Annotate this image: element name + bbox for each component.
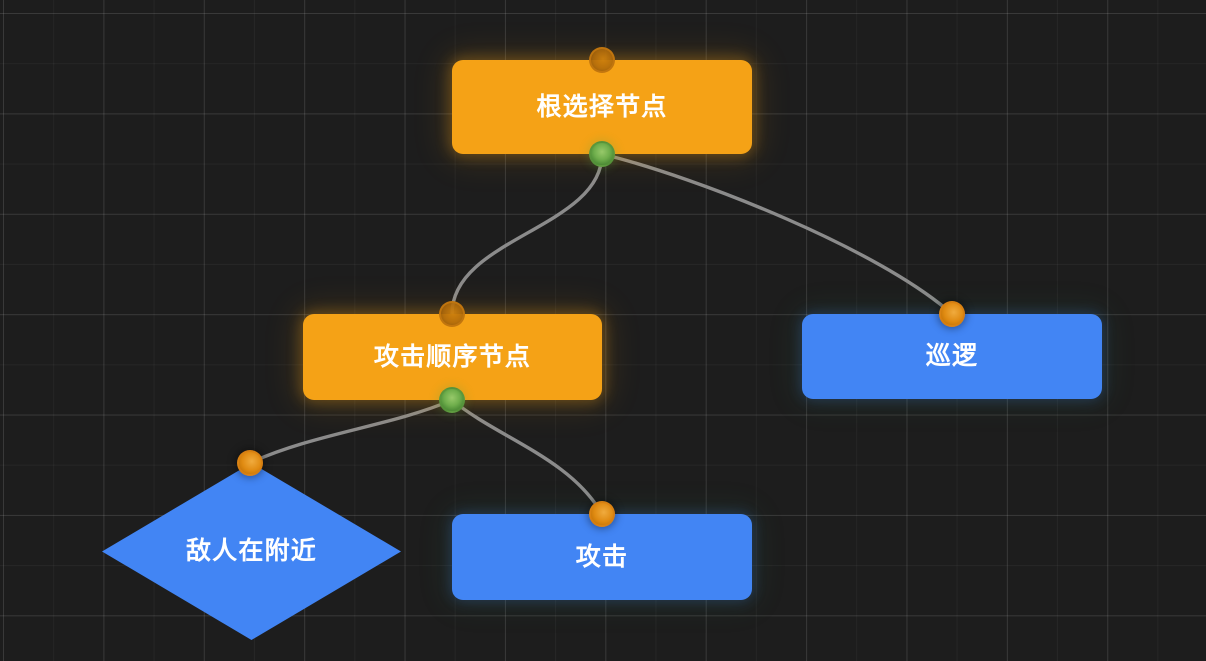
node-root-selector-label: 根选择节点 <box>536 95 667 120</box>
port-in-patrol[interactable] <box>939 301 965 327</box>
port-in-root-selector[interactable] <box>589 47 615 73</box>
edge-root-to-attack-sequence[interactable] <box>452 154 602 314</box>
node-root-selector[interactable]: 根选择节点 <box>452 60 752 154</box>
port-out-attack-sequence[interactable] <box>439 387 465 413</box>
node-attack-sequence-label: 攻击顺序节点 <box>374 345 531 370</box>
port-in-attack[interactable] <box>589 501 615 527</box>
node-enemy-nearby[interactable]: 敌人在附近 <box>102 463 401 640</box>
node-attack-sequence[interactable]: 攻击顺序节点 <box>303 314 602 400</box>
node-attack-label: 攻击 <box>576 545 628 570</box>
port-in-enemy-nearby[interactable] <box>237 450 263 476</box>
node-patrol[interactable]: 巡逻 <box>802 314 1102 399</box>
port-out-root-selector[interactable] <box>589 141 615 167</box>
node-enemy-nearby-label: 敌人在附近 <box>186 539 317 564</box>
node-attack[interactable]: 攻击 <box>452 514 752 600</box>
port-in-attack-sequence[interactable] <box>439 301 465 327</box>
edge-root-to-patrol[interactable] <box>602 154 952 314</box>
node-root-selector-body[interactable]: 根选择节点 <box>452 60 752 154</box>
node-enemy-nearby-body[interactable]: 敌人在附近 <box>102 463 401 640</box>
edge-attack-sequence-to-enemy-nearby[interactable] <box>250 400 452 463</box>
behavior-tree-canvas[interactable]: 根选择节点 攻击顺序节点 巡逻 敌人在附近 攻击 <box>0 0 1206 661</box>
edge-attack-sequence-to-attack[interactable] <box>452 400 602 514</box>
node-patrol-label: 巡逻 <box>926 344 978 369</box>
